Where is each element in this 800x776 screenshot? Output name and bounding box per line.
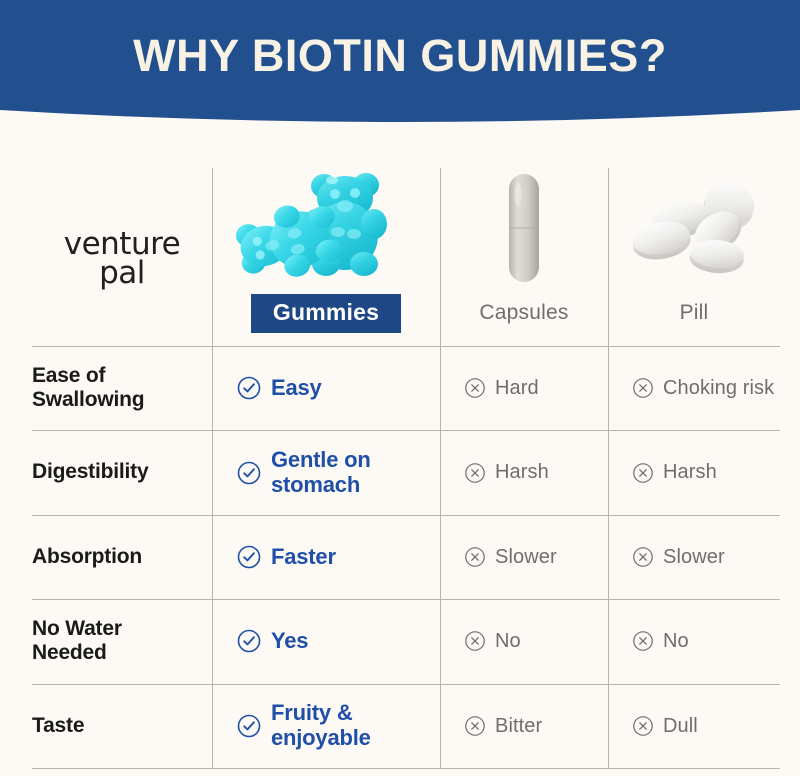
cell-gummies: Easy — [212, 346, 440, 430]
row-label: No Water Needed — [32, 617, 200, 666]
page-header: WHY BIOTIN GUMMIES? — [0, 0, 800, 126]
cell-capsules: Bitter — [440, 684, 608, 768]
check-circle-icon — [236, 628, 262, 654]
value-gummies: Faster — [236, 544, 336, 570]
cell-pill: Harsh — [608, 430, 780, 514]
row-label-cell: Digestibility — [32, 430, 212, 514]
row-divider — [32, 768, 780, 769]
x-circle-icon — [464, 546, 486, 568]
row-label: Digestibility — [32, 460, 148, 484]
table-row: TasteFruity & enjoyableBitterDull — [32, 684, 780, 768]
table-row: Ease of SwallowingEasyHardChoking risk — [32, 346, 780, 430]
row-label-cell: No Water Needed — [32, 599, 212, 683]
row-label: Ease of Swallowing — [32, 364, 200, 413]
value-text: Faster — [271, 545, 336, 570]
x-circle-icon — [464, 462, 486, 484]
x-circle-icon — [632, 377, 654, 399]
column-label-pill: Pill — [680, 301, 709, 325]
cell-capsules: Harsh — [440, 430, 608, 514]
value-capsules: Slower — [464, 546, 557, 568]
cell-gummies: Yes — [212, 599, 440, 683]
comparison-table: venture pal — [32, 168, 780, 768]
table-row: AbsorptionFasterSlowerSlower — [32, 515, 780, 599]
x-circle-icon — [464, 630, 486, 652]
value-gummies: Fruity & enjoyable — [236, 701, 440, 750]
value-text: Harsh — [495, 461, 549, 483]
table-row: No Water NeededYesNoNo — [32, 599, 780, 683]
column-header-pill: Pill — [608, 168, 780, 346]
value-pill: Slower — [632, 546, 725, 568]
x-circle-icon — [632, 630, 654, 652]
value-text: No — [495, 630, 521, 652]
x-circle-icon — [632, 462, 654, 484]
cell-pill: Dull — [608, 684, 780, 768]
value-capsules: Hard — [464, 377, 539, 399]
brand-logo-cell: venture pal — [32, 168, 212, 346]
capsules-label-wrap: Capsules — [440, 288, 608, 338]
column-header-capsules: Capsules — [440, 168, 608, 346]
row-label-cell: Taste — [32, 684, 212, 768]
value-text: Harsh — [663, 461, 717, 483]
cell-pill: Choking risk — [608, 346, 780, 430]
check-circle-icon — [236, 544, 262, 570]
check-circle-icon — [236, 375, 262, 401]
value-pill: Dull — [632, 715, 698, 737]
x-circle-icon — [632, 715, 654, 737]
row-label-cell: Absorption — [32, 515, 212, 599]
gummy-bears-image — [212, 168, 440, 288]
page-title: WHY BIOTIN GUMMIES? — [0, 30, 800, 82]
cell-capsules: Slower — [440, 515, 608, 599]
capsule-icon — [492, 170, 556, 286]
cell-capsules: Hard — [440, 346, 608, 430]
cell-gummies: Gentle on stomach — [212, 430, 440, 514]
row-label: Absorption — [32, 545, 142, 569]
column-label-capsules: Capsules — [479, 301, 568, 325]
x-circle-icon — [464, 715, 486, 737]
value-gummies: Yes — [236, 628, 308, 654]
value-text: Hard — [495, 377, 539, 399]
value-text: Yes — [271, 629, 308, 654]
venture-pal-logo: venture pal — [47, 222, 197, 292]
value-text: Slower — [663, 546, 725, 568]
value-pill: Choking risk — [632, 377, 774, 399]
value-gummies: Easy — [236, 375, 322, 401]
cell-gummies: Faster — [212, 515, 440, 599]
value-text: Choking risk — [663, 377, 774, 399]
row-label: Taste — [32, 714, 84, 738]
check-circle-icon — [236, 713, 262, 739]
logo-line-2: pal — [47, 255, 197, 291]
cell-pill: Slower — [608, 515, 780, 599]
value-text: Gentle on stomach — [271, 448, 440, 497]
value-gummies: Gentle on stomach — [236, 448, 440, 497]
gummy-bears-icon — [236, 170, 416, 286]
value-text: No — [663, 630, 689, 652]
value-text: Fruity & enjoyable — [271, 701, 440, 750]
table-header-row: venture pal — [32, 168, 780, 346]
column-label-gummies: Gummies — [251, 294, 401, 333]
pills-icon — [629, 178, 759, 278]
value-text: Bitter — [495, 715, 542, 737]
value-capsules: Harsh — [464, 461, 549, 483]
value-text: Slower — [495, 546, 557, 568]
value-text: Dull — [663, 715, 698, 737]
row-label-cell: Ease of Swallowing — [32, 346, 212, 430]
x-circle-icon — [632, 546, 654, 568]
capsule-image — [440, 168, 608, 288]
check-circle-icon — [236, 460, 262, 486]
cell-pill: No — [608, 599, 780, 683]
cell-capsules: No — [440, 599, 608, 683]
gummies-label-wrap: Gummies — [212, 288, 440, 338]
value-capsules: Bitter — [464, 715, 542, 737]
value-pill: No — [632, 630, 689, 652]
value-pill: Harsh — [632, 461, 717, 483]
column-header-gummies: Gummies — [212, 168, 440, 346]
value-capsules: No — [464, 630, 521, 652]
pills-image — [608, 168, 780, 288]
table-row: DigestibilityGentle on stomachHarshHarsh — [32, 430, 780, 514]
value-text: Easy — [271, 376, 322, 401]
x-circle-icon — [464, 377, 486, 399]
cell-gummies: Fruity & enjoyable — [212, 684, 440, 768]
pill-label-wrap: Pill — [608, 288, 780, 338]
